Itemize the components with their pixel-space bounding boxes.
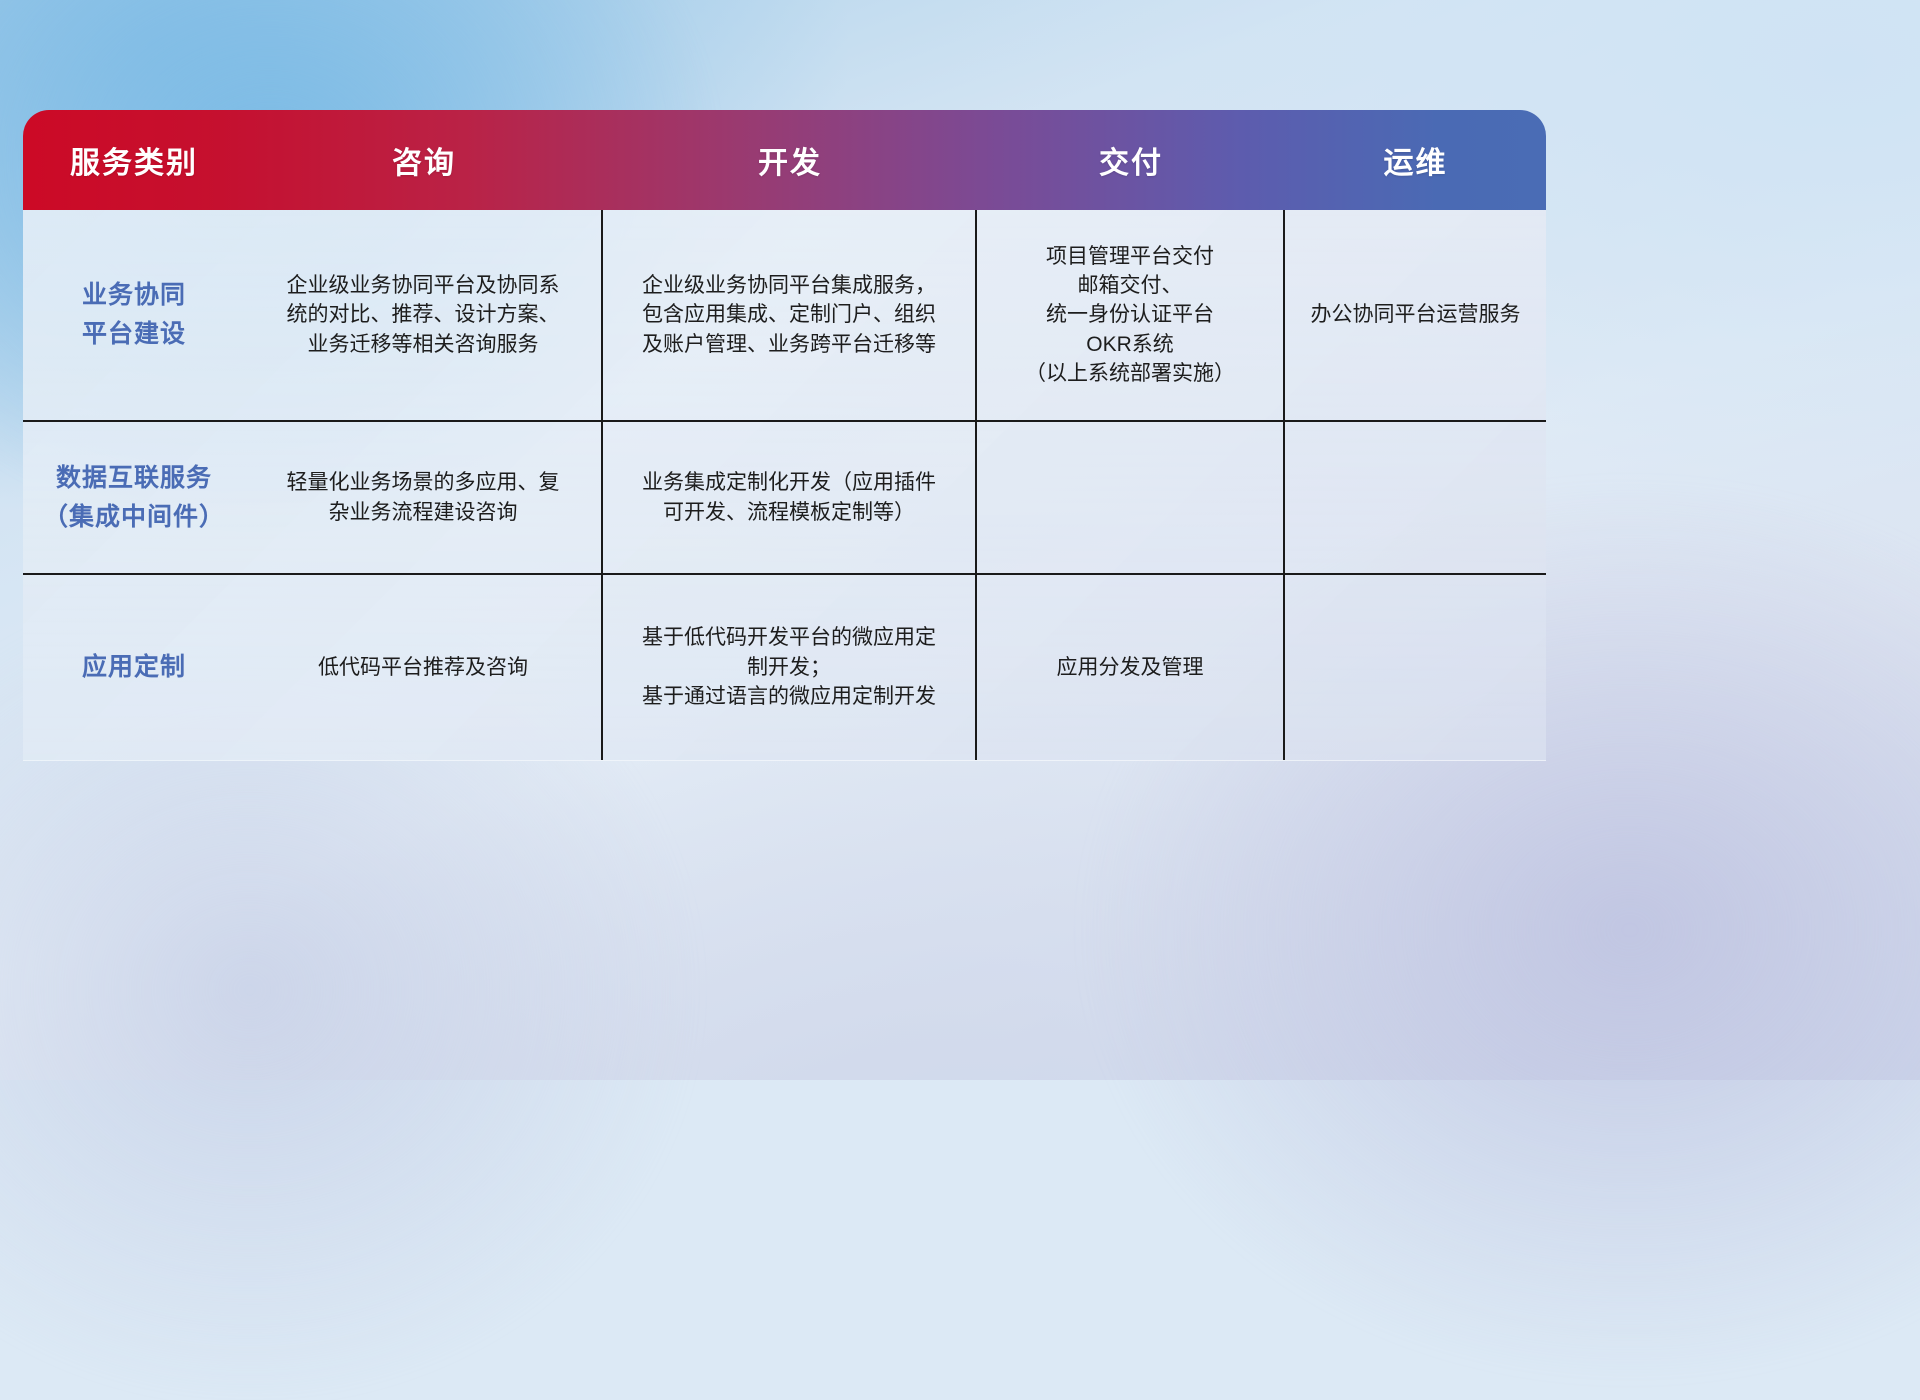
column-header-consulting: 咨询	[245, 110, 603, 210]
cell-consulting: 低代码平台推荐及咨询	[245, 575, 603, 760]
column-header-operations: 运维	[1285, 110, 1546, 210]
cell-consulting: 轻量化业务场景的多应用、复 杂业务流程建设咨询	[245, 422, 603, 573]
cell-delivery	[977, 422, 1285, 573]
table-body: 业务协同 平台建设 企业级业务协同平台及协同系 统的对比、推荐、设计方案、 业务…	[23, 210, 1546, 761]
cell-development: 业务集成定制化开发（应用插件 可开发、流程模板定制等）	[603, 422, 977, 573]
cell-consulting: 企业级业务协同平台及协同系 统的对比、推荐、设计方案、 业务迁移等相关咨询服务	[245, 210, 603, 420]
table-header-row: 服务类别 咨询 开发 交付 运维	[23, 110, 1546, 210]
cell-delivery: 应用分发及管理	[977, 575, 1285, 760]
column-header-development: 开发	[603, 110, 977, 210]
cell-operations: 办公协同平台运营服务	[1285, 210, 1546, 420]
cell-operations	[1285, 422, 1546, 573]
cell-development: 企业级业务协同平台集成服务， 包含应用集成、定制门户、组织 及账户管理、业务跨平…	[603, 210, 977, 420]
cell-delivery: 项目管理平台交付 邮箱交付、 统一身份认证平台 OKR系统 （以上系统部署实施）	[977, 210, 1285, 420]
cell-development: 基于低代码开发平台的微应用定 制开发； 基于通过语言的微应用定制开发	[603, 575, 977, 760]
column-header-category: 服务类别	[23, 110, 245, 210]
row-category-label: 业务协同 平台建设	[23, 210, 245, 420]
table-row: 应用定制 低代码平台推荐及咨询 基于低代码开发平台的微应用定 制开发； 基于通过…	[23, 575, 1546, 760]
services-matrix-table: 服务类别 咨询 开发 交付 运维 业务协同 平台建设 企业级业务协同平台及协同系…	[23, 110, 1546, 761]
column-header-delivery: 交付	[977, 110, 1285, 210]
table-row: 数据互联服务 （集成中间件） 轻量化业务场景的多应用、复 杂业务流程建设咨询 业…	[23, 422, 1546, 575]
cell-operations	[1285, 575, 1546, 760]
row-category-label: 应用定制	[23, 575, 245, 760]
row-category-label: 数据互联服务 （集成中间件）	[23, 422, 245, 573]
table-row: 业务协同 平台建设 企业级业务协同平台及协同系 统的对比、推荐、设计方案、 业务…	[23, 210, 1546, 422]
